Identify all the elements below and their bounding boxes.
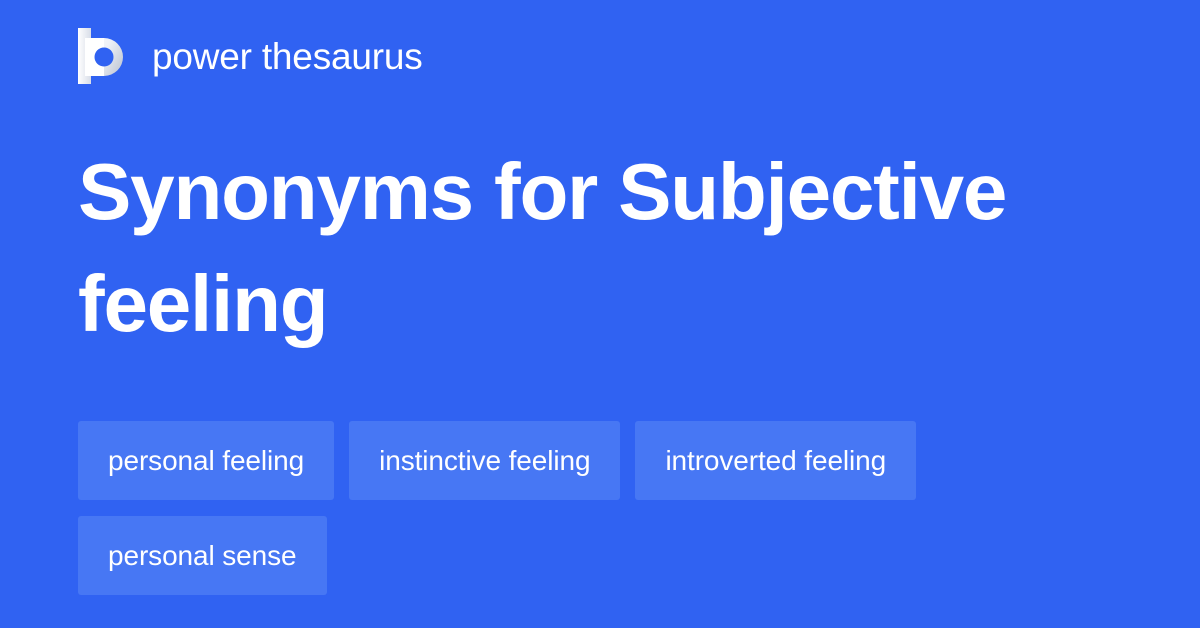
synonym-chip[interactable]: personal sense — [78, 516, 327, 595]
brand-name: power thesaurus — [152, 38, 423, 75]
brand-header[interactable]: power thesaurus — [78, 26, 423, 86]
synonym-chip-list: personal feeling instinctive feeling int… — [78, 421, 1118, 595]
synonym-chip[interactable]: instinctive feeling — [349, 421, 620, 500]
page-title: Synonyms for Subjective feeling — [78, 136, 1138, 360]
synonym-chip[interactable]: personal feeling — [78, 421, 334, 500]
power-thesaurus-b-logo-icon — [78, 28, 130, 84]
synonym-chip[interactable]: introverted feeling — [635, 421, 916, 500]
share-card: power thesaurus Synonyms for Subjective … — [0, 0, 1200, 628]
